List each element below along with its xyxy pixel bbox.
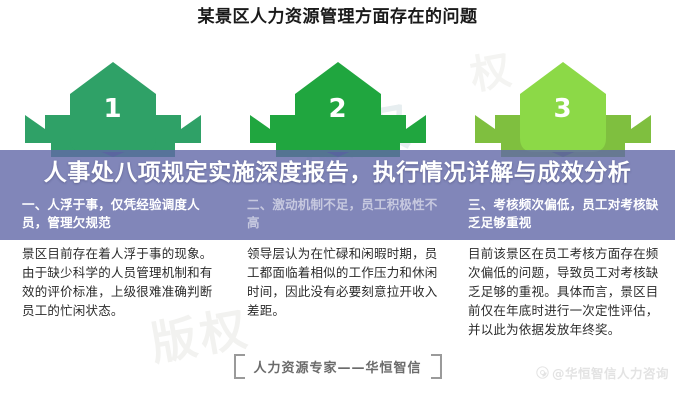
column-heading: 二、激动机制不足，员工积极性不高 [247, 196, 447, 236]
badge-number: 1 [83, 94, 143, 124]
bracket-right-icon [431, 354, 442, 379]
weibo-watermark: @华恒智信人力咨询 [536, 363, 669, 382]
content-column: 二、激动机制不足，员工积极性不高 领导层认为在忙碌和闲暇时期，员工都面临着相似的… [247, 196, 447, 320]
column-body: 领导层认为在忙碌和闲暇时期，员工都面临着相似的工作压力和休闲时间，因此没有必要刻… [247, 244, 447, 320]
content-columns: 一、人浮于事，仅凭经验调度人员，管理欠规范 景区目前存在着人浮于事的现象。由于缺… [0, 196, 675, 346]
weibo-handle-text: @华恒智信人力咨询 [552, 363, 669, 382]
bracket-left-icon [233, 354, 244, 379]
badge-number: 2 [308, 94, 368, 124]
content-column: 一、人浮于事，仅凭经验调度人员，管理欠规范 景区目前存在着人浮于事的现象。由于缺… [22, 196, 222, 320]
badge-number: 3 [533, 94, 593, 124]
overlay-headline: 人事处八项规定实施深度报告，执行情况详解与成效分析 [0, 158, 675, 188]
footer-tagline-text: 人力资源专家——华恒智信 [244, 357, 430, 376]
slide-canvas: 版权 版权 权 某景区人力资源管理方面存在的问题 1 [0, 0, 675, 400]
page-title: 某景区人力资源管理方面存在的问题 [0, 6, 675, 28]
weibo-icon [536, 366, 549, 379]
column-heading: 三、考核频次偏低，员工对考核缺乏足够重视 [468, 196, 668, 236]
column-body: 景区目前存在着人浮于事的现象。由于缺少科学的人员管理机制和有效的评价标准，上级很… [22, 244, 222, 320]
column-body: 目前该景区在员工考核方面存在频次偏低的问题，导致员工对考核缺乏足够的重视。具体而… [468, 244, 668, 339]
content-column: 三、考核频次偏低，员工对考核缺乏足够重视 目前该景区在员工考核方面存在频次偏低的… [468, 196, 668, 339]
footer-tagline: 人力资源专家——华恒智信 [233, 351, 441, 382]
column-heading: 一、人浮于事，仅凭经验调度人员，管理欠规范 [22, 196, 222, 236]
